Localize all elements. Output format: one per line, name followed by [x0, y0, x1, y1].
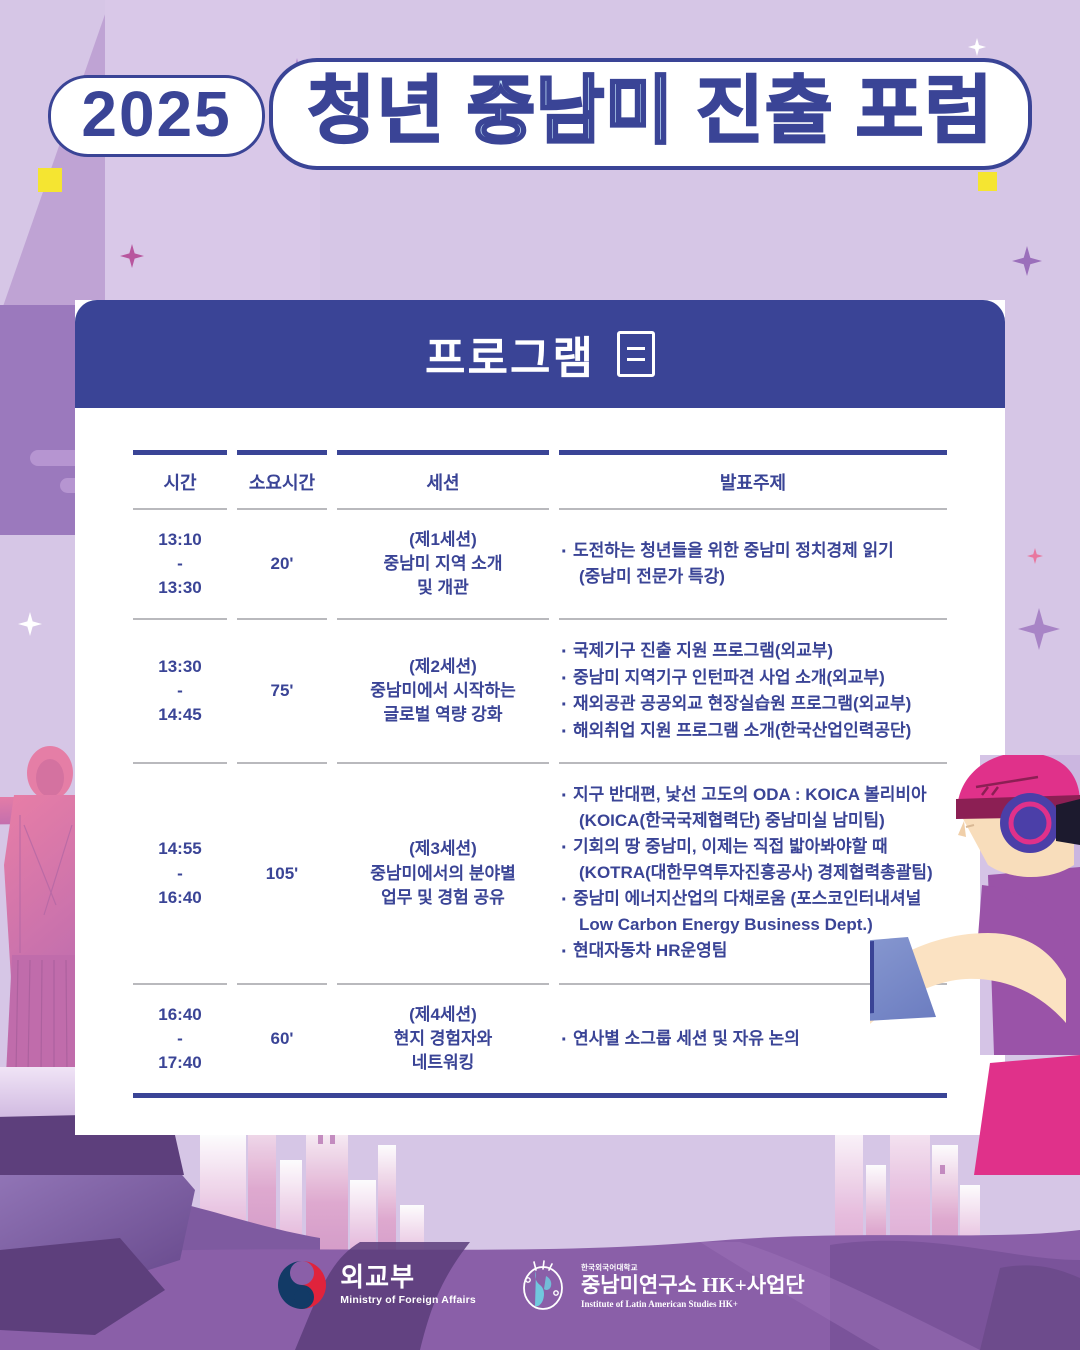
sparkle-icon	[1027, 548, 1043, 564]
time-dash: -	[133, 679, 227, 703]
title-part-3: 진출 포럼	[674, 69, 993, 152]
title-part-2-highlight: 중남미	[467, 69, 674, 152]
time-dash: -	[133, 1027, 227, 1051]
topic-list: 국제기구 진출 지원 프로그램(외교부)중남미 지역기구 인턴파견 사업 소개(…	[559, 638, 947, 743]
session-line: 중남미에서의 분야별	[337, 862, 549, 886]
cell-time: 16:40-17:40	[133, 984, 227, 1096]
cell-duration: 20'	[237, 509, 327, 619]
table-header-row: 시간 소요시간 세션 발표주제	[133, 453, 947, 510]
logo-institute-name-kr: 중남미연구소 HK+사업단	[581, 1275, 805, 1296]
cell-duration: 105'	[237, 763, 327, 984]
title-main: 청년 중남미 진출 포럼	[307, 72, 993, 150]
session-line: 네트워킹	[337, 1051, 549, 1075]
cell-topic: 국제기구 진출 지원 프로그램(외교부)중남미 지역기구 인턴파견 사업 소개(…	[559, 619, 947, 763]
logo-ministry-name-kr: 외교부	[340, 1264, 476, 1290]
session-line: 및 개관	[337, 576, 549, 600]
column-spacer	[327, 453, 337, 510]
column-spacer	[227, 453, 237, 510]
logo-ministry-of-foreign-affairs: 외교부 Ministry of Foreign Affairs	[275, 1258, 476, 1312]
cell-spacer	[549, 984, 559, 1096]
session-line: (제1세션)	[337, 528, 549, 552]
cell-spacer	[549, 619, 559, 763]
topic-main: 해외취업 지원 프로그램 소개(한국산업인력공단)	[573, 721, 911, 740]
session-line: 업무 및 경험 공유	[337, 886, 549, 910]
deco-square-yellow	[978, 172, 997, 191]
session-line: (제2세션)	[337, 655, 549, 679]
topic-main: 연사별 소그룹 세션 및 자유 논의	[573, 1029, 800, 1048]
topic-main: 중남미 지역기구 인턴파견 사업 소개(외교부)	[573, 668, 885, 687]
poster-root: 2025 청년 중남미 진출 포럼 프로그램 시간	[0, 0, 1080, 1350]
table-row: 13:10-13:3020'(제1세션)중남미 지역 소개및 개관도전하는 청년…	[133, 509, 947, 619]
program-header-title: 프로그램	[425, 322, 595, 386]
cell-time: 14:55-16:40	[133, 763, 227, 984]
cell-time: 13:10-13:30	[133, 509, 227, 619]
column-header-time: 시간	[133, 453, 227, 510]
topic-list: 도전하는 청년들을 위한 중남미 정치경제 읽기(중남미 전문가 특강)	[559, 538, 947, 589]
topic-item: 도전하는 청년들을 위한 중남미 정치경제 읽기(중남미 전문가 특강)	[559, 538, 947, 589]
document-list-icon	[617, 331, 655, 377]
column-header-topic: 발표주제	[559, 453, 947, 510]
cell-spacer	[227, 763, 237, 984]
time-start: 14:55	[133, 837, 227, 861]
cell-spacer	[327, 984, 337, 1096]
title-part-1: 청년	[307, 69, 467, 152]
program-card-header: 프로그램	[75, 300, 1005, 408]
cell-session: (제4세션)현지 경험자와네트워킹	[337, 984, 549, 1096]
column-header-session: 세션	[337, 453, 549, 510]
cell-spacer	[227, 984, 237, 1096]
title-year: 2025	[48, 75, 264, 157]
poster-title: 2025 청년 중남미 진출 포럼	[0, 75, 1080, 170]
topic-item: 중남미 지역기구 인턴파견 사업 소개(외교부)	[559, 665, 947, 691]
program-table-body: 13:10-13:3020'(제1세션)중남미 지역 소개및 개관도전하는 청년…	[133, 509, 947, 1096]
person-illustration	[870, 755, 1080, 1175]
topic-main: 기회의 땅 중남미, 이제는 직접 밟아봐야할 때	[573, 837, 888, 856]
cell-spacer	[227, 509, 237, 619]
time-end: 16:40	[133, 886, 227, 910]
footer-logos: 외교부 Ministry of Foreign Affairs 한국외국어대학교	[0, 1258, 1080, 1312]
program-table: 시간 소요시간 세션 발표주제 13:10-13:3020'(제1세션)중남미 …	[133, 450, 947, 1098]
table-row: 16:40-17:4060'(제4세션)현지 경험자와네트워킹연사별 소그룹 세…	[133, 984, 947, 1096]
sparkle-icon	[968, 38, 986, 56]
cell-topic: 도전하는 청년들을 위한 중남미 정치경제 읽기(중남미 전문가 특강)	[559, 509, 947, 619]
cell-spacer	[549, 763, 559, 984]
topic-main: 도전하는 청년들을 위한 중남미 정치경제 읽기	[573, 541, 894, 560]
topic-main: 현대자동차 HR운영팀	[573, 941, 727, 960]
cell-session: (제1세션)중남미 지역 소개및 개관	[337, 509, 549, 619]
cell-duration: 75'	[237, 619, 327, 763]
topic-item: 해외취업 지원 프로그램 소개(한국산업인력공단)	[559, 718, 947, 744]
topic-continuation: (중남미 전문가 특강)	[573, 564, 947, 590]
cell-spacer	[327, 619, 337, 763]
session-line: (제3세션)	[337, 837, 549, 861]
cell-session: (제3세션)중남미에서의 분야별업무 및 경험 공유	[337, 763, 549, 984]
cell-spacer	[549, 509, 559, 619]
time-start: 16:40	[133, 1003, 227, 1027]
deco-square-yellow	[38, 168, 62, 192]
program-table-wrap: 시간 소요시간 세션 발표주제 13:10-13:3020'(제1세션)중남미 …	[75, 408, 1005, 1098]
cell-spacer	[327, 763, 337, 984]
time-end: 14:45	[133, 703, 227, 727]
time-end: 13:30	[133, 576, 227, 600]
cell-duration: 60'	[237, 984, 327, 1096]
logo-institute-name-en: Institute of Latin American Studies HK+	[581, 1299, 805, 1309]
sparkle-icon	[1018, 608, 1060, 650]
session-line: 현지 경험자와	[337, 1027, 549, 1051]
program-card: 프로그램 시간 소요시간 세션 발표주제	[75, 300, 1005, 1135]
cell-session: (제2세션)중남미에서 시작하는글로벌 역량 강화	[337, 619, 549, 763]
session-line: (제4세션)	[337, 1003, 549, 1027]
title-main-wrap: 청년 중남미 진출 포럼	[269, 58, 1031, 170]
time-end: 17:40	[133, 1051, 227, 1075]
table-row: 13:30-14:4575'(제2세션)중남미에서 시작하는글로벌 역량 강화국…	[133, 619, 947, 763]
column-spacer	[549, 453, 559, 510]
logo-university-name: 한국외국어대학교	[581, 1262, 805, 1273]
globe-americas-icon	[516, 1258, 570, 1312]
cell-spacer	[227, 619, 237, 763]
topic-main: 재외공관 공공외교 현장실습원 프로그램(외교부)	[573, 694, 911, 713]
time-start: 13:30	[133, 655, 227, 679]
sparkle-icon	[1012, 246, 1042, 276]
logo-ministry-name-en: Ministry of Foreign Affairs	[340, 1294, 476, 1306]
topic-item: 재외공관 공공외교 현장실습원 프로그램(외교부)	[559, 691, 947, 717]
topic-main: 국제기구 진출 지원 프로그램(외교부)	[573, 641, 833, 660]
session-line: 중남미에서 시작하는	[337, 679, 549, 703]
session-line: 글로벌 역량 강화	[337, 703, 549, 727]
sparkle-icon	[18, 612, 42, 636]
table-row: 14:55-16:40105'(제3세션)중남미에서의 분야별업무 및 경험 공…	[133, 763, 947, 984]
cell-time: 13:30-14:45	[133, 619, 227, 763]
column-header-duration: 소요시간	[237, 453, 327, 510]
time-dash: -	[133, 862, 227, 886]
cell-spacer	[327, 509, 337, 619]
sparkle-icon	[120, 244, 144, 268]
session-line: 중남미 지역 소개	[337, 552, 549, 576]
topic-item: 국제기구 진출 지원 프로그램(외교부)	[559, 638, 947, 664]
time-start: 13:10	[133, 528, 227, 552]
taegeuk-icon	[275, 1258, 329, 1312]
logo-latin-american-studies: 한국외국어대학교 중남미연구소 HK+사업단 Institute of Lati…	[516, 1258, 805, 1312]
time-dash: -	[133, 552, 227, 576]
